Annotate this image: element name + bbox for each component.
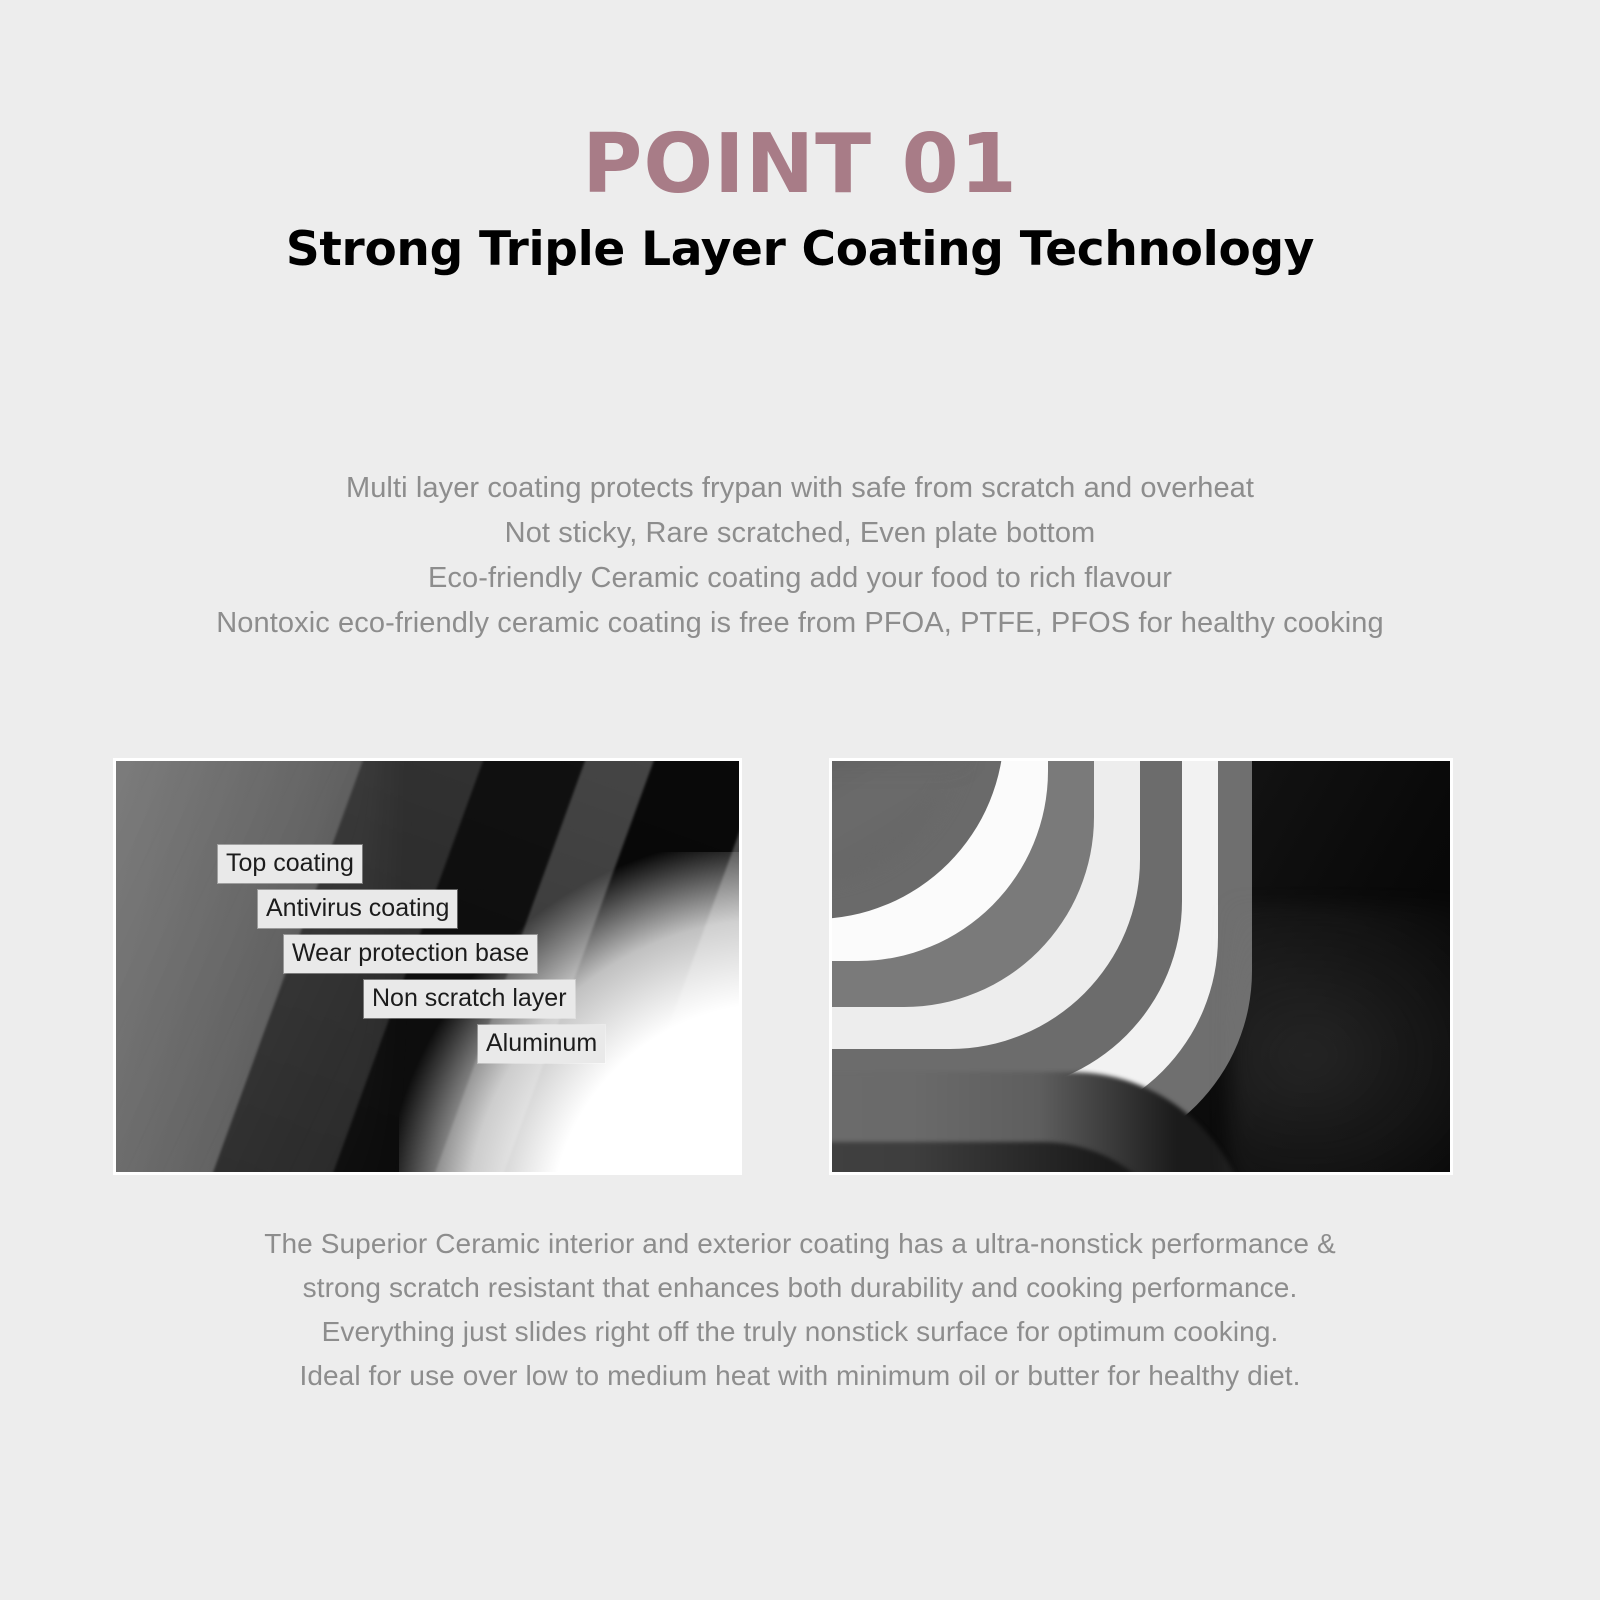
frypan-rim-closeup-image (829, 758, 1453, 1175)
layer-label-row: Antivirus coating (116, 890, 739, 928)
outro-paragraph: The Superior Ceramic interior and exteri… (0, 1222, 1600, 1398)
layer-label-row: Top coating (116, 845, 739, 883)
layer-label-antivirus-coating: Antivirus coating (258, 890, 457, 928)
image-gallery: Top coating Antivirus coating Wear prote… (113, 758, 1453, 1175)
layer-label-aluminum: Aluminum (478, 1025, 605, 1063)
intro-line: Nontoxic eco-friendly ceramic coating is… (0, 601, 1600, 646)
coating-cross-section-image: Top coating Antivirus coating Wear prote… (113, 758, 742, 1175)
intro-paragraph: Multi layer coating protects frypan with… (0, 466, 1600, 646)
layer-label-non-scratch-layer: Non scratch layer (364, 980, 575, 1018)
layer-label-row: Aluminum (116, 1025, 739, 1063)
intro-line: Eco-friendly Ceramic coating add your fo… (0, 556, 1600, 601)
frypan-sheen (1230, 905, 1450, 1172)
outro-line: The Superior Ceramic interior and exteri… (0, 1222, 1600, 1266)
outro-line: Everything just slides right off the tru… (0, 1310, 1600, 1354)
point-label: POINT 01 (0, 122, 1600, 208)
layer-label-row: Non scratch layer (116, 980, 739, 1018)
intro-line: Not sticky, Rare scratched, Even plate b… (0, 511, 1600, 556)
coating-cross-section-canvas: Top coating Antivirus coating Wear prote… (116, 761, 739, 1172)
product-feature-page: POINT 01 Strong Triple Layer Coating Tec… (0, 0, 1600, 1600)
layer-label-wear-protection-base: Wear protection base (284, 935, 537, 973)
intro-line: Multi layer coating protects frypan with… (0, 466, 1600, 511)
layer-label-list: Top coating Antivirus coating Wear prote… (116, 845, 739, 1070)
frypan-rim-canvas (832, 761, 1450, 1172)
outro-line: strong scratch resistant that enhances b… (0, 1266, 1600, 1310)
layer-label-row: Wear protection base (116, 935, 739, 973)
page-header: POINT 01 Strong Triple Layer Coating Tec… (0, 122, 1600, 278)
layer-label-top-coating: Top coating (218, 845, 362, 883)
page-title: Strong Triple Layer Coating Technology (0, 222, 1600, 278)
outro-line: Ideal for use over low to medium heat wi… (0, 1354, 1600, 1398)
